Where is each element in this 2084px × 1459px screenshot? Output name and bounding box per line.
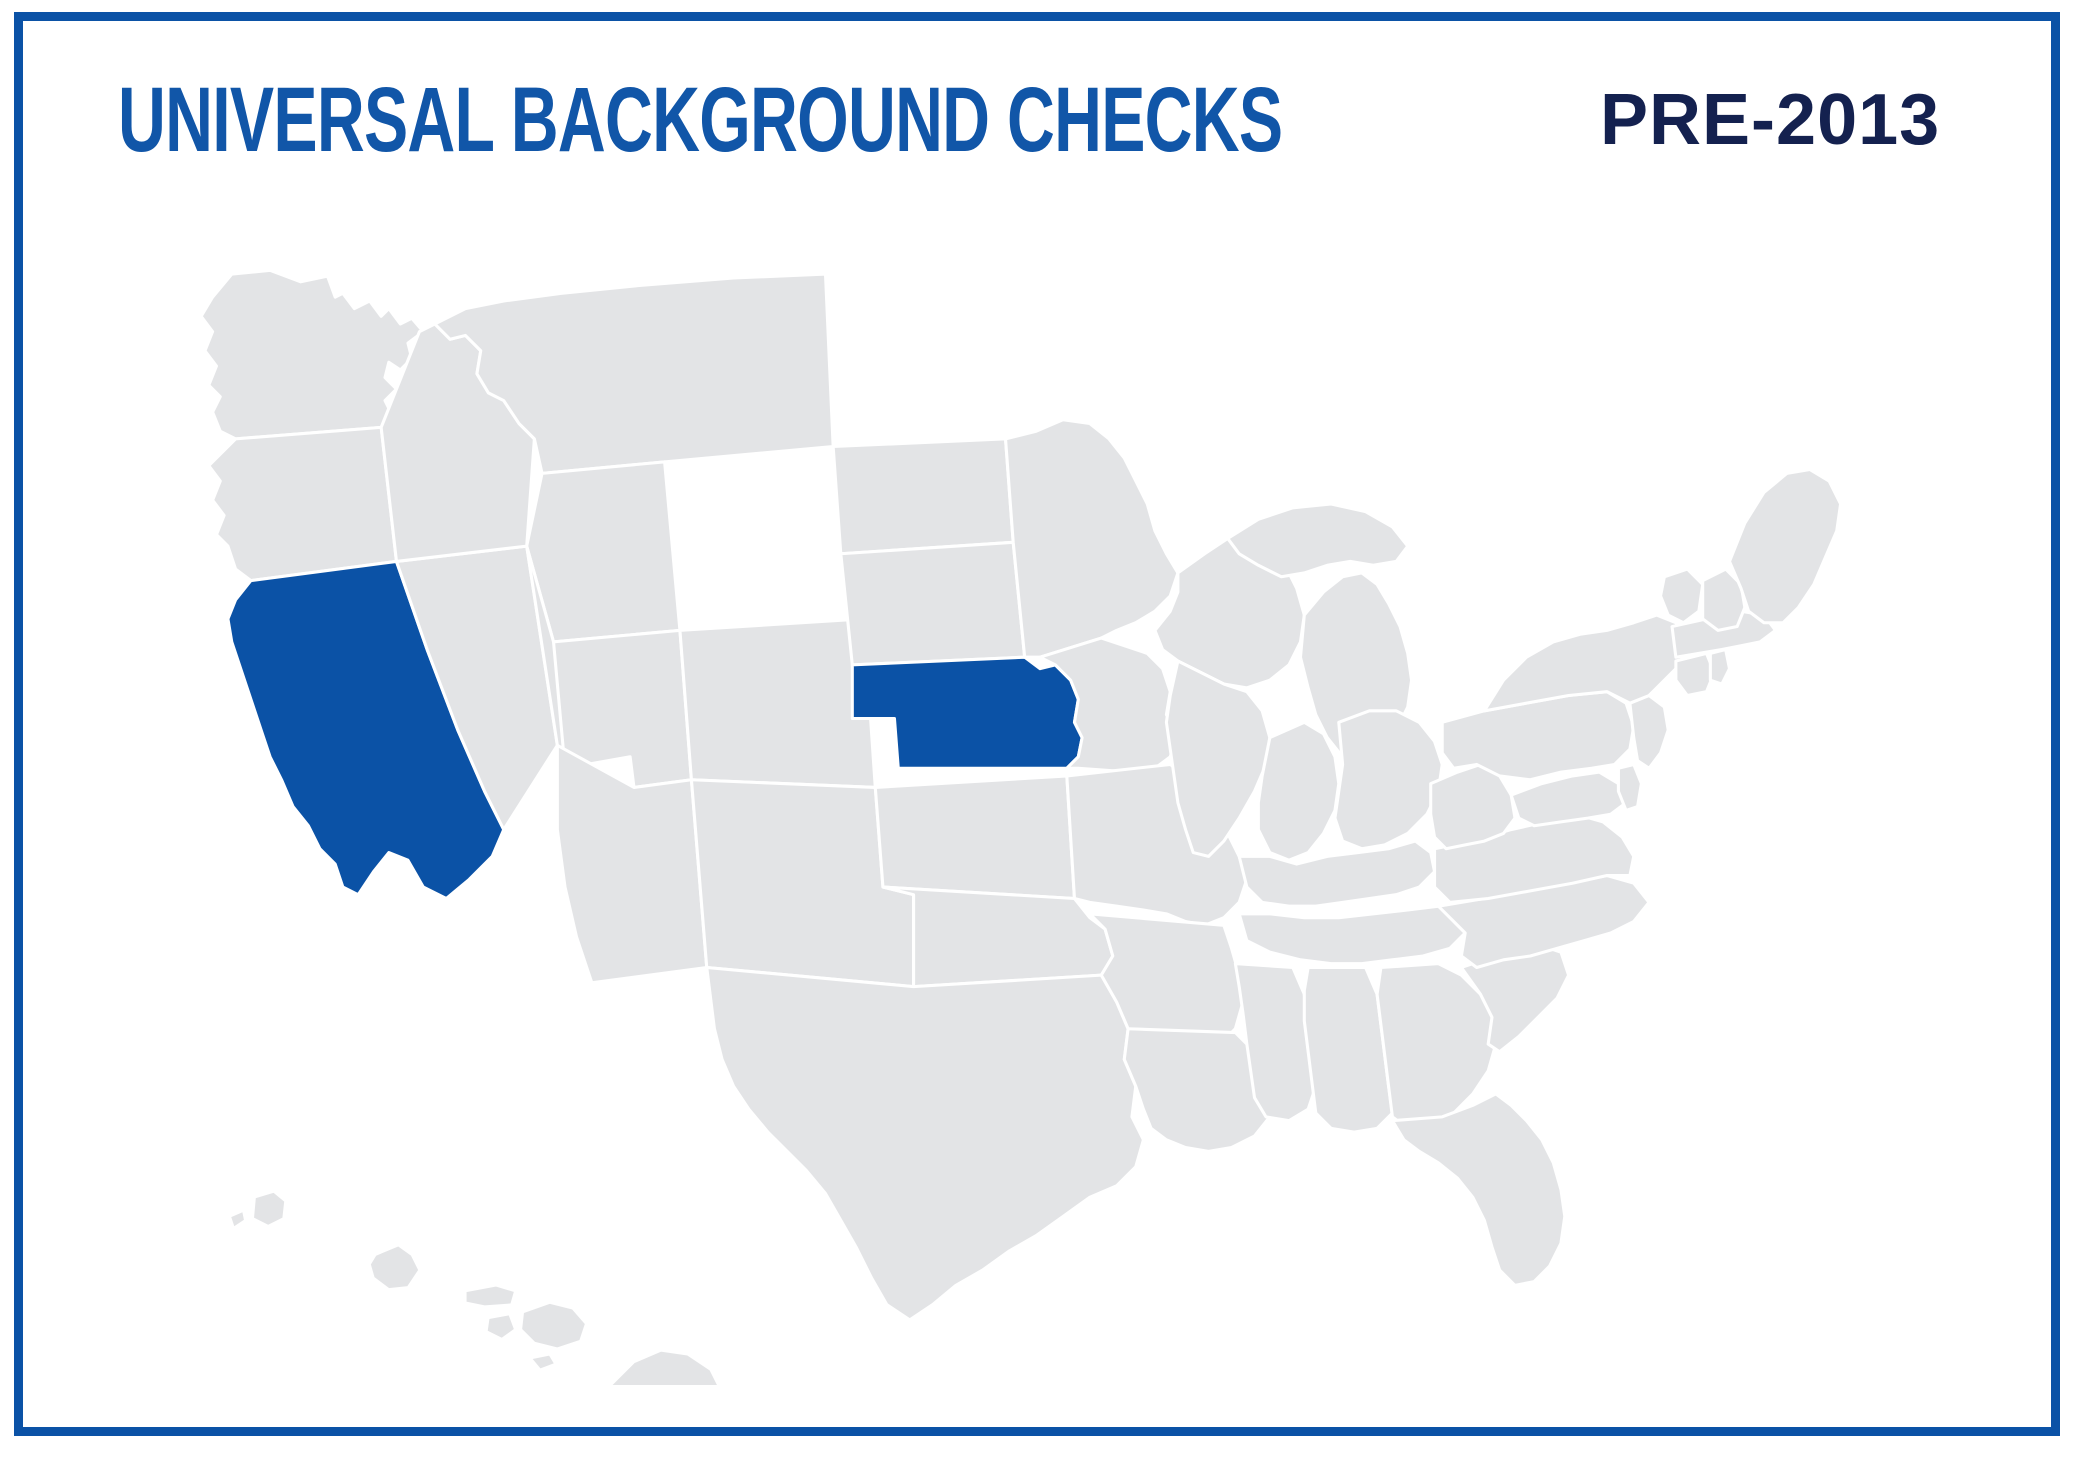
period-label: PRE-2013 — [1600, 84, 1940, 156]
state-tennessee[interactable] — [1239, 906, 1465, 963]
island-kauai — [253, 1192, 286, 1226]
state-texas[interactable] — [707, 967, 1144, 1319]
state-ohio[interactable] — [1335, 711, 1442, 849]
state-south-dakota[interactable] — [841, 542, 1025, 665]
state-florida[interactable] — [1392, 1094, 1564, 1286]
state-pennsylvania[interactable] — [1442, 692, 1634, 780]
island-niihau — [230, 1211, 245, 1228]
island-hawaii — [607, 1351, 722, 1385]
state-nebraska[interactable] — [852, 657, 1082, 768]
state-oklahoma[interactable] — [883, 887, 1113, 987]
island-maui — [521, 1303, 586, 1349]
state-wyoming[interactable] — [527, 462, 680, 642]
state-minnesota[interactable] — [1006, 420, 1178, 657]
hawaii-inset[interactable] — [230, 1192, 722, 1385]
us-states-map — [120, 255, 1960, 1385]
state-north-dakota[interactable] — [833, 439, 1013, 554]
island-lanai — [486, 1314, 515, 1339]
state-vermont[interactable] — [1661, 569, 1703, 623]
infographic-page: UNIVERSAL BACKGROUND CHECKS PRE-2013 — [0, 0, 2084, 1459]
state-connecticut[interactable] — [1676, 653, 1714, 695]
island-molokai — [465, 1285, 515, 1306]
state-delaware[interactable] — [1618, 764, 1641, 810]
state-new-jersey[interactable] — [1630, 696, 1668, 769]
island-kahoolawe — [531, 1354, 556, 1369]
header: UNIVERSAL BACKGROUND CHECKS PRE-2013 — [0, 0, 2084, 210]
map-container — [120, 255, 1960, 1385]
state-rhode-island[interactable] — [1710, 650, 1729, 684]
island-oahu — [370, 1245, 420, 1289]
state-oregon[interactable] — [209, 427, 397, 580]
state-indiana[interactable] — [1258, 722, 1338, 860]
page-title: UNIVERSAL BACKGROUND CHECKS — [118, 74, 1282, 166]
state-colorado[interactable] — [680, 619, 875, 788]
state-kansas[interactable] — [875, 776, 1074, 899]
state-maine[interactable] — [1729, 470, 1840, 623]
